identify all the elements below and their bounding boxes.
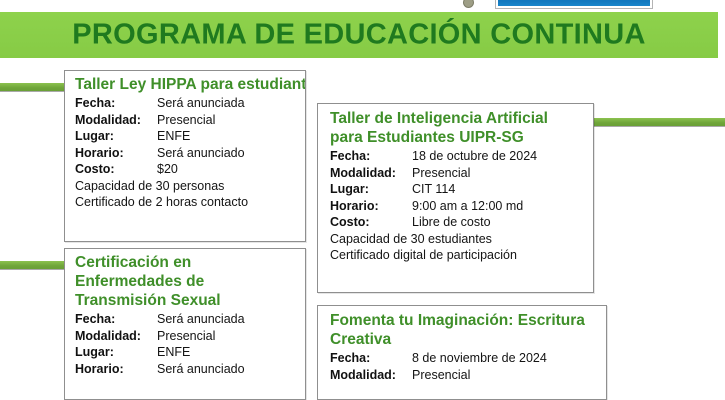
detail-value: Presencial — [412, 165, 470, 182]
card-fomenta-tu-imaginacion[interactable]: Fomenta tu Imaginación: Escritura Creati… — [317, 305, 607, 400]
detail-value: Presencial — [157, 328, 215, 345]
detail-row: Fecha: 8 de noviembre de 2024 — [330, 350, 606, 367]
card-title-line2: Creativa — [330, 331, 606, 349]
blue-toolbar-button-fill — [498, 0, 650, 6]
record-dot-icon — [463, 0, 474, 8]
detail-row: Lugar: ENFE — [75, 128, 305, 145]
detail-label: Fecha: — [75, 95, 157, 112]
detail-row: Modalidad: Presencial — [330, 367, 606, 384]
card-title-line1: Fomenta tu Imaginación: Escritura — [330, 312, 606, 330]
detail-value: Será anunciada — [157, 311, 245, 328]
detail-value: 8 de noviembre de 2024 — [412, 350, 547, 367]
card-title-line1: Taller de Inteligencia Artificial — [330, 110, 593, 128]
card-title-line3: Transmisión Sexual — [75, 292, 305, 310]
detail-value: Presencial — [412, 367, 470, 384]
detail-label: Fecha: — [330, 148, 412, 165]
card-title: Taller Ley HIPPA para estudiantes — [75, 76, 305, 94]
detail-value: Será anunciado — [157, 145, 245, 162]
top-chrome-strip — [0, 0, 725, 12]
detail-label: Horario: — [75, 145, 157, 162]
card-title-line1: Certificación en — [75, 254, 305, 272]
page-title: PROGRAMA DE EDUCACIÓN CONTINUA — [0, 19, 718, 52]
detail-label: Horario: — [75, 361, 157, 378]
detail-value: Presencial — [157, 112, 215, 129]
page-title-band: PROGRAMA DE EDUCACIÓN CONTINUA — [0, 12, 718, 58]
detail-row: Horario: 9:00 am a 12:00 md — [330, 198, 593, 215]
card-taller-ley-hippa[interactable]: Taller Ley HIPPA para estudiantes Fecha:… — [64, 70, 306, 242]
detail-row: Lugar: ENFE — [75, 344, 305, 361]
connector-bar-right-top — [594, 118, 725, 127]
card-note: Capacidad de 30 estudiantes — [330, 231, 593, 248]
card-note: Certificado de 2 horas contacto — [75, 194, 305, 211]
detail-row: Modalidad: Presencial — [330, 165, 593, 182]
detail-value: 9:00 am a 12:00 md — [412, 198, 523, 215]
card-note: Capacidad de 30 personas — [75, 178, 305, 195]
detail-label: Lugar: — [75, 344, 157, 361]
detail-value: 18 de octubre de 2024 — [412, 148, 537, 165]
detail-value: $20 — [157, 161, 178, 178]
blue-toolbar-button[interactable] — [495, 0, 653, 9]
card-taller-inteligencia-artificial[interactable]: Taller de Inteligencia Artificial para E… — [317, 103, 594, 293]
detail-label: Modalidad: — [330, 165, 412, 182]
connector-bar-left-middle — [0, 261, 70, 270]
detail-label: Modalidad: — [330, 367, 412, 384]
detail-row: Modalidad: Presencial — [75, 328, 305, 345]
detail-label: Modalidad: — [75, 112, 157, 129]
detail-row: Horario: Será anunciado — [75, 145, 305, 162]
detail-row: Horario: Será anunciado — [75, 361, 305, 378]
detail-value: Será anunciada — [157, 95, 245, 112]
detail-label: Costo: — [75, 161, 157, 178]
detail-value: ENFE — [157, 128, 190, 145]
detail-row: Costo: Libre de costo — [330, 214, 593, 231]
detail-label: Costo: — [330, 214, 412, 231]
detail-value: CIT 114 — [412, 181, 455, 198]
detail-row: Fecha: Será anunciada — [75, 311, 305, 328]
detail-label: Fecha: — [75, 311, 157, 328]
detail-label: Lugar: — [75, 128, 157, 145]
detail-row: Fecha: Será anunciada — [75, 95, 305, 112]
detail-row: Costo: $20 — [75, 161, 305, 178]
detail-label: Lugar: — [330, 181, 412, 198]
detail-value: Libre de costo — [412, 214, 491, 231]
card-note: Certificado digital de participación — [330, 247, 593, 264]
detail-label: Fecha: — [330, 350, 412, 367]
detail-value: Será anunciado — [157, 361, 245, 378]
card-certificacion-ets[interactable]: Certificación en Enfermedades de Transmi… — [64, 248, 306, 400]
detail-row: Fecha: 18 de octubre de 2024 — [330, 148, 593, 165]
card-title-line2: Enfermedades de — [75, 273, 305, 291]
detail-row: Lugar: CIT 114 — [330, 181, 593, 198]
connector-bar-left-top — [0, 83, 70, 92]
detail-label: Horario: — [330, 198, 412, 215]
card-title-line2: para Estudiantes UIPR-SG — [330, 129, 593, 147]
detail-value: ENFE — [157, 344, 190, 361]
detail-row: Modalidad: Presencial — [75, 112, 305, 129]
detail-label: Modalidad: — [75, 328, 157, 345]
